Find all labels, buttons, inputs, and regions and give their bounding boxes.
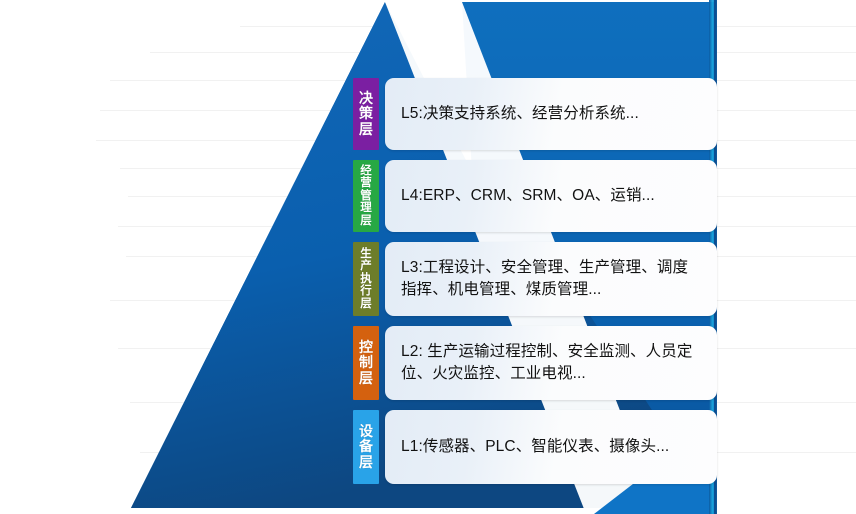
layer-tag-char: 经	[360, 165, 372, 177]
layer-row-l4[interactable]: 经 营 管 理 层 L4:ERP、CRM、SRM、OA、运销...	[353, 160, 717, 232]
layer-tag-char: 层	[359, 371, 373, 386]
layer-tag-char: 层	[360, 215, 372, 227]
layer-tag-l5: 决 策 层	[353, 78, 379, 150]
layer-row-l3[interactable]: 生 产 执 行 层 L3:工程设计、安全管理、生产管理、调度指挥、机电管理、煤质…	[353, 242, 717, 316]
layer-card-l4[interactable]: L4:ERP、CRM、SRM、OA、运销...	[385, 160, 717, 232]
layer-card-text: L3:工程设计、安全管理、生产管理、调度指挥、机电管理、煤质管理...	[401, 257, 703, 301]
layer-card-text: L1:传感器、PLC、智能仪表、摄像头...	[401, 436, 669, 458]
layer-tag-char: 制	[359, 355, 373, 370]
layer-card-text: L4:ERP、CRM、SRM、OA、运销...	[401, 185, 655, 207]
layer-tag-char: 策	[359, 106, 373, 121]
layer-tag-l3: 生 产 执 行 层	[353, 242, 379, 316]
layer-tag-l2: 控 制 层	[353, 326, 379, 400]
layer-card-l1[interactable]: L1:传感器、PLC、智能仪表、摄像头...	[385, 410, 717, 484]
layer-row-l1[interactable]: 设 备 层 L1:传感器、PLC、智能仪表、摄像头...	[353, 410, 717, 484]
layer-tag-char: 行	[360, 285, 372, 297]
layer-card-l5[interactable]: L5:决策支持系统、经营分析系统...	[385, 78, 717, 150]
layer-card-text: L5:决策支持系统、经营分析系统...	[401, 103, 639, 125]
layer-tag-l4: 经 营 管 理 层	[353, 160, 379, 232]
layer-tag-char: 生	[360, 248, 372, 260]
layer-tag-char: 执	[360, 273, 372, 285]
layer-row-l2[interactable]: 控 制 层 L2: 生产运输过程控制、安全监测、人员定位、火灾监控、工业电视..…	[353, 326, 717, 400]
layer-card-text: L2: 生产运输过程控制、安全监测、人员定位、火灾监控、工业电视...	[401, 341, 703, 385]
layer-tag-char: 产	[360, 260, 372, 272]
layer-tag-char: 层	[359, 455, 373, 470]
layer-row-l5[interactable]: 决 策 层 L5:决策支持系统、经营分析系统...	[353, 78, 717, 150]
pyramid-layers: 决 策 层 L5:决策支持系统、经营分析系统... 经 营 管 理 层 L4:E…	[0, 0, 856, 514]
layer-tag-char: 备	[359, 439, 373, 454]
layer-tag-char: 层	[359, 122, 373, 137]
layer-tag-char: 营	[360, 177, 372, 189]
layer-tag-char: 层	[360, 298, 372, 310]
layer-card-l3[interactable]: L3:工程设计、安全管理、生产管理、调度指挥、机电管理、煤质管理...	[385, 242, 717, 316]
layer-tag-l1: 设 备 层	[353, 410, 379, 484]
diagram-canvas: 决 策 层 L5:决策支持系统、经营分析系统... 经 营 管 理 层 L4:E…	[0, 0, 856, 514]
layer-card-l2[interactable]: L2: 生产运输过程控制、安全监测、人员定位、火灾监控、工业电视...	[385, 326, 717, 400]
layer-tag-char: 理	[360, 202, 372, 214]
layer-tag-char: 管	[360, 190, 372, 202]
